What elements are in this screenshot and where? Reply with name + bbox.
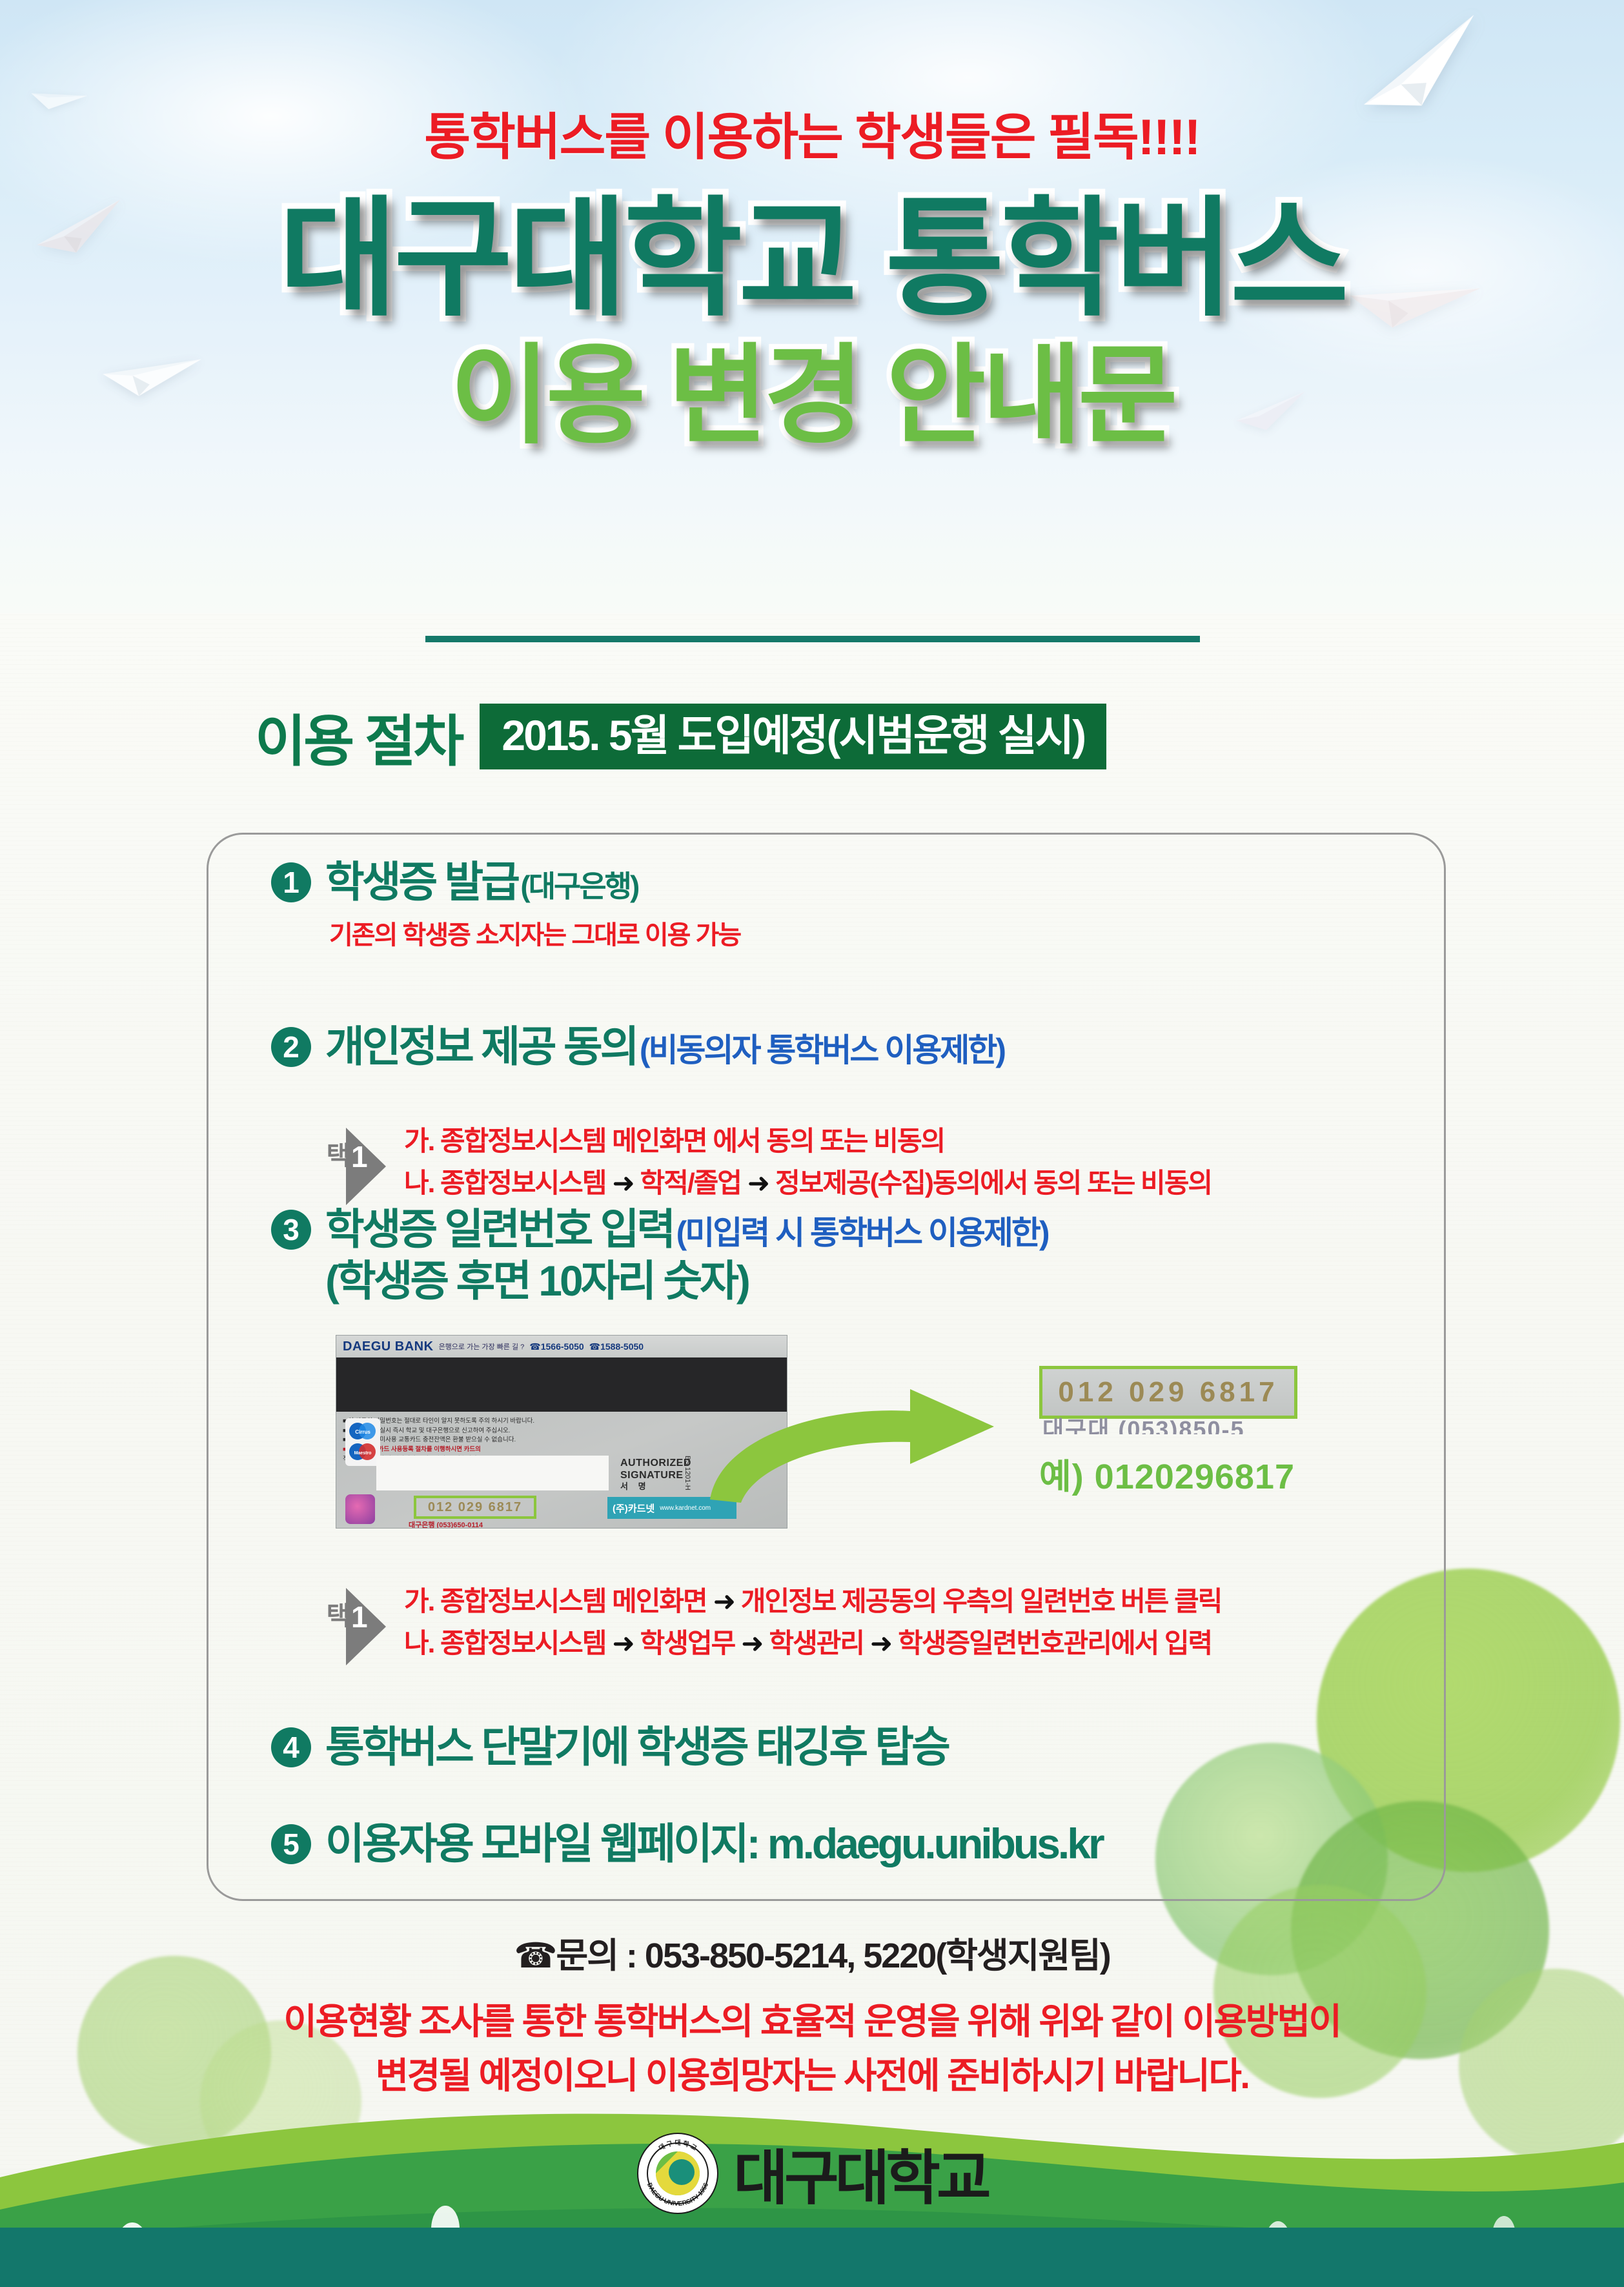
debit-card-icon	[345, 1494, 375, 1524]
choice-part: 학생관리	[769, 1628, 864, 1658]
choice-part: 정보제공(수집)동의에서 동의 또는 비동의	[775, 1168, 1212, 1198]
choice-part: 개인정보 제공동의 우측의 일련번호 버튼 클릭	[741, 1586, 1222, 1616]
university-seal-icon: 대 구 대 학 교 DAEGU UNIVERSITY 1956	[636, 2132, 719, 2215]
footer-bar	[0, 2228, 1624, 2287]
choice-part: 학생업무	[640, 1628, 735, 1658]
bank-phone-1: ☎1566-5050	[529, 1341, 584, 1352]
choice-line-b: 나. 종합정보시스템➜학적/졸업➜정보제공(수집)동의에서 동의 또는 비동의	[404, 1162, 1212, 1204]
step-item-5: 5 이용자용 모바일 웹페이지: m.daegu.unibus.kr	[271, 1820, 1102, 1868]
step-note: (대구은행)	[520, 869, 638, 903]
section-label: 이용 절차	[255, 696, 462, 777]
choose-one-number: 1	[351, 1142, 368, 1172]
choice-part: 학적/졸업	[640, 1168, 741, 1198]
step-note: (미입력 시 통학버스 이용제한)	[676, 1215, 1048, 1251]
bank-name: DAEGU BANK	[343, 1339, 434, 1354]
step-title: 학생증 발급	[325, 858, 518, 906]
choose-one-marker: 택 1	[323, 1128, 392, 1205]
step-title: 이용자용 모바일 웹페이지: m.daegu.unibus.kr	[325, 1820, 1102, 1867]
section-header: 이용 절차 2015. 5월 도입예정(시범운행 실시)	[255, 696, 1106, 777]
step-note: (비동의자 통학버스 이용제한)	[640, 1032, 1004, 1068]
choice-part: 나. 종합정보시스템	[404, 1168, 605, 1198]
arrow-icon: ➜	[605, 1168, 640, 1198]
choose-one-marker: 택 1	[323, 1588, 392, 1665]
title-divider	[425, 636, 1200, 642]
poster-title: 대구대학교 통학버스 이용 변경 안내문	[0, 194, 1624, 451]
step-number-badge: 5	[271, 1824, 311, 1864]
arrow-icon: ➜	[864, 1628, 898, 1658]
card-header-strip: DAEGU BANK 은행으로 가는 가장 빠른 길 ? ☎1566-5050 …	[336, 1336, 787, 1357]
notice-line-1: 이용현황 조사를 통한 통학버스의 효율적 운영을 위해 위와 같이 이용방법이	[0, 1995, 1624, 2049]
step-number-badge: 2	[271, 1027, 311, 1067]
step-title: 학생증 일련번호 입력	[325, 1205, 673, 1253]
choice-part: 가. 종합정보시스템 메인화면	[404, 1586, 707, 1616]
choice-line-a: 가. 종합정보시스템 메인화면 에서 동의 또는 비동의	[404, 1120, 1212, 1162]
bank-contact-line: 대구은행 (053)650-0114	[409, 1520, 483, 1529]
bank-slogan: 은행으로 가는 가장 빠른 길 ?	[439, 1341, 525, 1352]
step-title: 통학버스 단말기에 학생증 태깅후 탑승	[325, 1723, 948, 1771]
magnified-serial-number: 012 029 6817	[1058, 1376, 1278, 1408]
student-card-illustration: DAEGU BANK 은행으로 가는 가장 빠른 길 ? ☎1566-5050 …	[336, 1335, 1252, 1548]
svg-text:Cirrus: Cirrus	[355, 1429, 370, 1435]
step-item-3: 3 학생증 일련번호 입력 (미입력 시 통학버스 이용제한) (학생증 후면 …	[271, 1206, 1048, 1305]
svg-text:Maestro: Maestro	[354, 1451, 372, 1456]
step-item-2: 2 개인정보 제공 동의 (비동의자 통학버스 이용제한)	[271, 1023, 1004, 1071]
notice-block: 이용현황 조사를 통한 통학버스의 효율적 운영을 위해 위와 같이 이용방법이…	[0, 1995, 1624, 2103]
choose-one-label: 택	[323, 1602, 349, 1627]
step-subtitle: (학생증 후면 10자리 숫자)	[325, 1257, 1048, 1305]
cirrus-maestro-icon: Cirrus Maestro	[345, 1418, 380, 1466]
bank-phone-2: ☎1588-5050	[589, 1341, 644, 1352]
title-line-1: 대구대학교 통학버스	[0, 194, 1624, 325]
university-brand: 대 구 대 학 교 DAEGU UNIVERSITY 1956 대구대학교	[0, 2130, 1624, 2216]
card-serial-number: 012 029 6817	[414, 1496, 536, 1519]
arrow-icon: ➜	[735, 1628, 769, 1658]
choice-group-1: 택 1 가. 종합정보시스템 메인화면 에서 동의 또는 비동의 나. 종합정보…	[323, 1120, 1212, 1205]
step-number-badge: 3	[271, 1210, 311, 1250]
choice-line-a: 가. 종합정보시스템 메인화면➜개인정보 제공동의 우측의 일련번호 버튼 클릭	[404, 1580, 1221, 1622]
title-line-2: 이용 변경 안내문	[0, 341, 1624, 451]
choice-part: 나. 종합정보시스템	[404, 1628, 605, 1658]
choice-line-b: 나. 종합정보시스템➜학생업무➜학생관리➜학생증일련번호관리에서 입력	[404, 1622, 1221, 1664]
arrow-icon: ➜	[605, 1628, 640, 1658]
step-item-4: 4 통학버스 단말기에 학생증 태깅후 탑승	[271, 1723, 948, 1771]
step-item-1: 1 학생증 발급 (대구은행) 기존의 학생증 소지자는 그대로 이용 가능	[271, 859, 740, 951]
step-number-badge: 1	[271, 862, 311, 902]
step-title: 개인정보 제공 동의	[325, 1022, 636, 1070]
contact-line: ☎문의 : 053-850-5214, 5220(학생지원팀)	[0, 1927, 1624, 1978]
serial-example-text: 예) 0120296817	[1039, 1448, 1295, 1499]
choose-one-label: 택	[323, 1142, 349, 1166]
choice-group-2: 택 1 가. 종합정보시스템 메인화면➜개인정보 제공동의 우측의 일련번호 버…	[323, 1580, 1221, 1665]
notice-line-2: 변경될 예정이오니 이용희망자는 사전에 준비하시기 바랍니다.	[0, 2049, 1624, 2103]
signature-strip	[376, 1456, 609, 1490]
curved-arrow-icon	[607, 1361, 1033, 1509]
choice-part: 학생증일련번호관리에서 입력	[898, 1628, 1212, 1658]
kicker-headline: 통학버스를 이용하는 학생들은 필독!!!!	[0, 97, 1624, 169]
university-name: 대구대학교	[733, 2130, 987, 2216]
step-subtext: 기존의 학생증 소지자는 그대로 이용 가능	[329, 914, 740, 951]
section-banner: 2015. 5월 도입예정(시범운행 실시)	[480, 704, 1106, 769]
step-number-badge: 4	[271, 1727, 311, 1767]
arrow-icon: ➜	[707, 1586, 741, 1616]
poster-canvas: 통학버스를 이용하는 학생들은 필독!!!! 대구대학교 통학버스 이용 변경 …	[0, 0, 1624, 2287]
choose-one-number: 1	[351, 1602, 368, 1632]
arrow-icon: ➜	[741, 1168, 775, 1198]
magnified-ghost-text: 대구대 (053)850-5	[1042, 1411, 1294, 1434]
